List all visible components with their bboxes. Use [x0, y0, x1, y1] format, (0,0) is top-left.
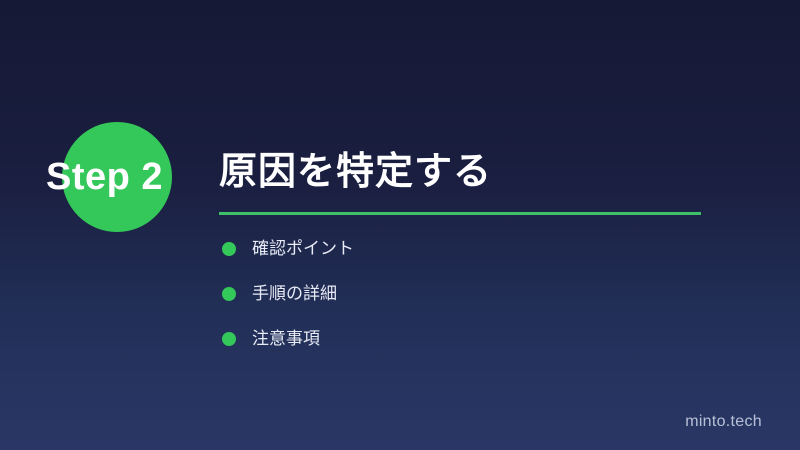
- list-item-label: 注意事項: [252, 327, 320, 350]
- step-badge-label: Step 2: [46, 152, 163, 202]
- list-item: 手順の詳細: [222, 282, 682, 305]
- presentation-slide: Step 2 原因を特定する 確認ポイント 手順の詳細 注意事項 minto.t…: [0, 0, 800, 450]
- list-item-label: 確認ポイント: [252, 237, 354, 260]
- title-divider: [219, 212, 701, 215]
- slide-title: 原因を特定する: [219, 146, 759, 198]
- bullet-dot-icon: [222, 332, 236, 346]
- bullet-dot-icon: [222, 242, 236, 256]
- bullet-dot-icon: [222, 287, 236, 301]
- list-item-label: 手順の詳細: [252, 282, 337, 305]
- footer-watermark: minto.tech: [685, 413, 762, 431]
- bullet-list: 確認ポイント 手順の詳細 注意事項: [222, 237, 682, 372]
- list-item: 注意事項: [222, 327, 682, 350]
- title-block: 原因を特定する: [219, 146, 759, 215]
- list-item: 確認ポイント: [222, 237, 682, 260]
